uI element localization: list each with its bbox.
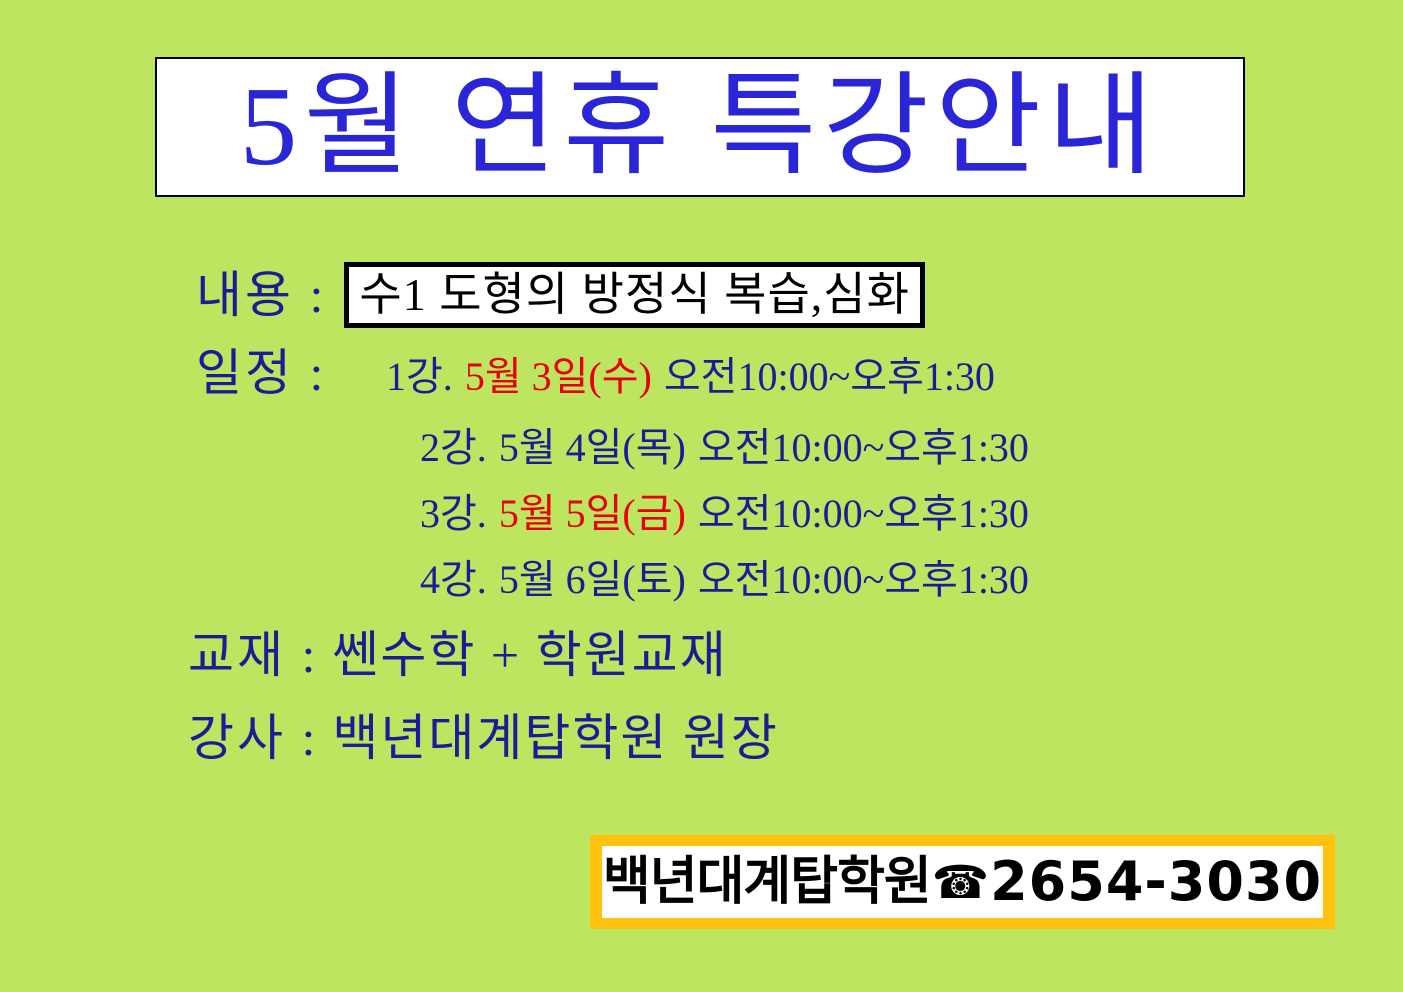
textbook-label: 교재 : <box>188 630 318 680</box>
schedule-time: 오전10:00~오후1:30 <box>698 425 1029 470</box>
contact-banner: 백년대계탑학원☎2654-3030 <box>590 835 1335 929</box>
schedule-item: 3강.5월 5일(금)오전10:00~오후1:30 <box>420 494 1196 534</box>
schedule-date: 5월 4일(목) <box>499 425 686 470</box>
schedule-date: 5월 5일(금) <box>499 491 686 536</box>
schedule-item: 4강.5월 6일(토)오전10:00~오후1:30 <box>420 560 1196 600</box>
page-title: 5월 연휴 특강안내 <box>240 71 1160 183</box>
schedule-time: 오전10:00~오후1:30 <box>698 491 1029 536</box>
textbook-value: 쎈수학 + 학원교재 <box>332 630 727 680</box>
teacher-value: 백년대계탑학원 원장 <box>332 713 779 763</box>
schedule-item: 1강.5월 3일(수)오전10:00~오후1:30 <box>386 357 995 397</box>
content-value-box: 수1 도형의 방정식 복습,심화 <box>344 262 925 328</box>
schedule-time: 오전10:00~오후1:30 <box>664 354 995 399</box>
schedule-date: 5월 3일(수) <box>465 354 652 399</box>
phone-number: 2654-3030 <box>990 855 1322 909</box>
schedule-remaining-rows: 2강.5월 4일(목)오전10:00~오후1:30 3강.5월 5일(금)오전1… <box>196 428 1196 600</box>
content-label: 내용 : <box>196 270 326 320</box>
telephone-icon: ☎ <box>932 859 989 905</box>
title-box: 5월 연휴 특강안내 <box>155 57 1245 197</box>
content-value: 수1 도형의 방정식 복습,심화 <box>359 272 910 318</box>
schedule-session: 2강. <box>420 425 487 470</box>
contact-banner-inner: 백년대계탑학원☎2654-3030 <box>602 846 1323 918</box>
schedule-date: 5월 6일(토) <box>499 557 686 602</box>
schedule-label: 일정 : <box>196 348 386 398</box>
schedule-first-row: 일정 : 1강.5월 3일(수)오전10:00~오후1:30 <box>196 348 1196 410</box>
schedule-item: 2강.5월 4일(목)오전10:00~오후1:30 <box>420 428 1196 468</box>
schedule-block: 일정 : 1강.5월 3일(수)오전10:00~오후1:30 2강.5월 4일(… <box>196 348 1196 600</box>
academy-name: 백년대계탑학원 <box>603 856 931 908</box>
teacher-label: 강사 : <box>188 713 318 763</box>
textbook-row: 교재 : 쎈수학 + 학원교재 <box>188 630 728 680</box>
content-row: 내용 : 수1 도형의 방정식 복습,심화 <box>196 255 1146 335</box>
poster-canvas: 5월 연휴 특강안내 내용 : 수1 도형의 방정식 복습,심화 일정 : 1강… <box>0 0 1403 992</box>
teacher-row: 강사 : 백년대계탑학원 원장 <box>188 713 779 763</box>
schedule-time: 오전10:00~오후1:30 <box>698 557 1029 602</box>
schedule-session: 1강. <box>386 354 453 399</box>
schedule-session: 3강. <box>420 491 487 536</box>
schedule-session: 4강. <box>420 557 487 602</box>
